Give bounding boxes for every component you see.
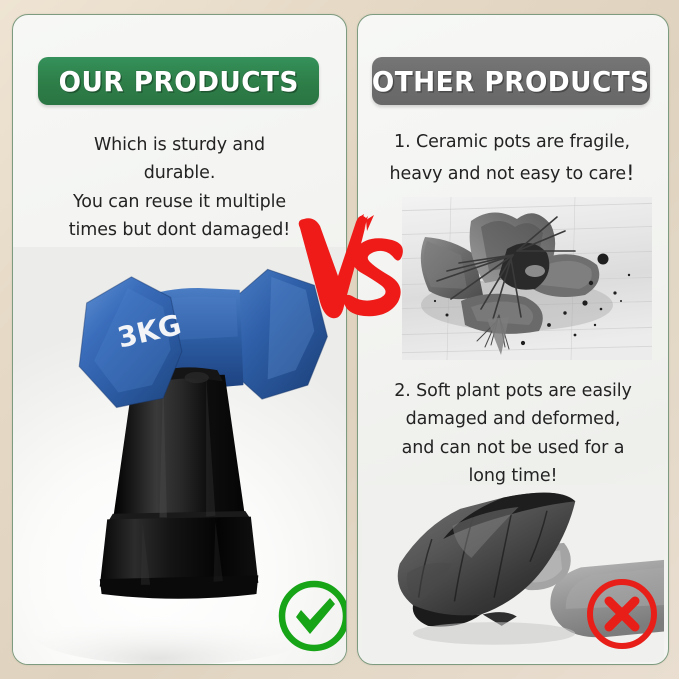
other-products-title: OTHER PRODUCTS bbox=[372, 65, 650, 98]
our-products-title-badge: OUR PRODUCTS bbox=[38, 57, 319, 105]
copy-line: 2. Soft plant pots are easily bbox=[378, 377, 648, 405]
copy-line: heavy and not easy to care! bbox=[376, 156, 648, 190]
copy-line: durable. bbox=[39, 159, 320, 187]
other-products-panel: OTHER PRODUCTS 1. Ceramic pots are fragi… bbox=[357, 14, 669, 665]
bad-verdict-badge bbox=[583, 575, 661, 653]
cross-circle-icon bbox=[583, 575, 661, 653]
other-products-title-badge: OTHER PRODUCTS bbox=[372, 57, 650, 105]
shattered-pot-illustration bbox=[402, 197, 652, 360]
our-products-title: OUR PRODUCTS bbox=[58, 65, 298, 98]
good-verdict-badge bbox=[275, 577, 347, 655]
copy-line: 1. Ceramic pots are fragile, bbox=[376, 128, 648, 156]
exclamation-mark: ! bbox=[626, 161, 634, 185]
copy-line: damaged and deformed, bbox=[378, 405, 648, 433]
other-products-point-one: 1. Ceramic pots are fragile, heavy and n… bbox=[376, 128, 648, 190]
comparison-infographic: OUR PRODUCTS Which is sturdy and durable… bbox=[0, 0, 679, 679]
check-circle-icon bbox=[275, 577, 347, 655]
other-products-point-two: 2. Soft plant pots are easily damaged an… bbox=[378, 377, 648, 490]
our-products-copy: Which is sturdy and durable. You can reu… bbox=[39, 131, 320, 244]
copy-line: You can reuse it multiple bbox=[39, 188, 320, 216]
broken-ceramic-pot-photo bbox=[402, 197, 652, 360]
copy-line: Which is sturdy and bbox=[39, 131, 320, 159]
copy-line: and can not be used for a bbox=[378, 434, 648, 462]
our-products-panel: OUR PRODUCTS Which is sturdy and durable… bbox=[12, 14, 347, 665]
copy-line: times but dont damaged! bbox=[39, 216, 320, 244]
